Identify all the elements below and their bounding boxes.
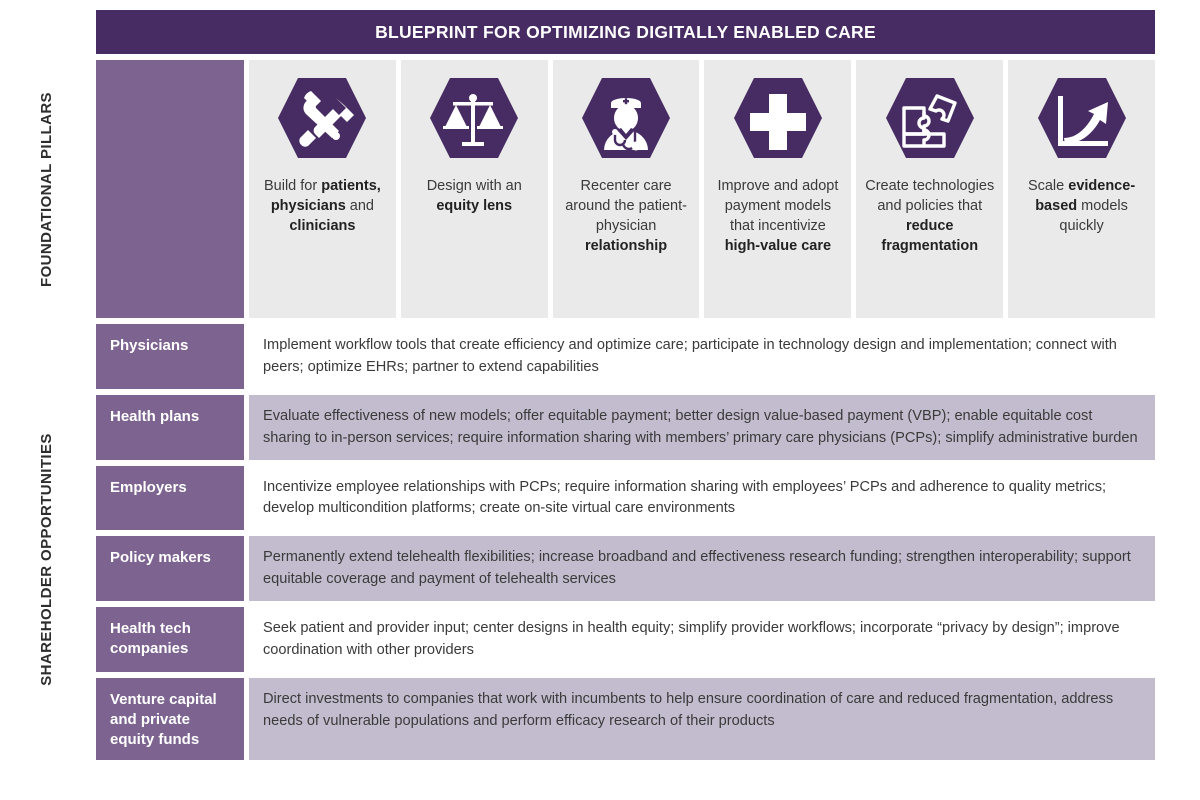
pillar-label: Scale evidence-based models quickly (1016, 176, 1147, 236)
table-row: Policy makersPermanently extend teleheal… (96, 536, 1155, 601)
stakeholder-opportunity-text: Permanently extend telehealth flexibilit… (249, 536, 1155, 601)
stakeholder-label: Health tech companies (96, 607, 244, 672)
balance-scales-icon (426, 74, 522, 162)
side-label-pillars-text: FOUNDATIONAL PILLARS (38, 92, 55, 287)
pillar-label: Improve and adopt payment models that in… (712, 176, 843, 256)
table-row: Health plansEvaluate effectiveness of ne… (96, 395, 1155, 460)
table-row: Venture capital and private equity funds… (96, 678, 1155, 760)
pillar-card-6: Scale evidence-based models quickly (1008, 60, 1155, 318)
table-row: PhysiciansImplement workflow tools that … (96, 324, 1155, 389)
side-label-shareholder-opportunities: SHAREHOLDER OPPORTUNITIES (0, 320, 92, 798)
stakeholder-label: Health plans (96, 395, 244, 460)
pillar-label: Design with an equity lens (409, 176, 540, 216)
doctor-stethoscope-icon (578, 74, 674, 162)
pillar-label: Build for patients, physicians and clini… (257, 176, 388, 236)
stakeholder-opportunity-text: Seek patient and provider input; center … (249, 607, 1155, 672)
pillar-card-4: Improve and adopt payment models that in… (704, 60, 851, 318)
stakeholder-opportunity-text: Evaluate effectiveness of new models; of… (249, 395, 1155, 460)
blueprint-infographic: FOUNDATIONAL PILLARS SHAREHOLDER OPPORTU… (0, 0, 1200, 800)
stakeholder-opportunity-text: Direct investments to companies that wor… (249, 678, 1155, 760)
stakeholder-label: Employers (96, 466, 244, 531)
pillar-card-2: Design with an equity lens (401, 60, 548, 318)
puzzle-pieces-icon (882, 74, 978, 162)
pillar-label: Recenter care around the patient-physici… (561, 176, 692, 256)
stakeholder-opportunity-text: Incentivize employee relationships with … (249, 466, 1155, 531)
medical-cross-icon (730, 74, 826, 162)
foundational-pillars-row: Build for patients, physicians and clini… (96, 60, 1155, 318)
pillar-card-5: Create technologies and policies that re… (856, 60, 1003, 318)
stakeholder-label: Policy makers (96, 536, 244, 601)
stakeholder-label: Physicians (96, 324, 244, 389)
blueprint-grid: BLUEPRINT FOR OPTIMIZING DIGITALLY ENABL… (96, 10, 1155, 766)
table-row: Health tech companiesSeek patient and pr… (96, 607, 1155, 672)
stakeholder-label: Venture capital and private equity funds (96, 678, 244, 760)
stakeholder-opportunity-text: Implement workflow tools that create eff… (249, 324, 1155, 389)
growth-chart-arrow-icon (1034, 74, 1130, 162)
side-label-stakeholders-text: SHAREHOLDER OPPORTUNITIES (38, 433, 55, 686)
pillar-label: Create technologies and policies that re… (864, 176, 995, 256)
side-label-foundational-pillars: FOUNDATIONAL PILLARS (0, 60, 92, 318)
tools-wrench-hammer-icon (274, 74, 370, 162)
pillar-card-3: Recenter care around the patient-physici… (553, 60, 700, 318)
stakeholder-rows: PhysiciansImplement workflow tools that … (96, 324, 1155, 760)
table-row: EmployersIncentivize employee relationsh… (96, 466, 1155, 531)
pillar-card-1: Build for patients, physicians and clini… (249, 60, 396, 318)
page-title: BLUEPRINT FOR OPTIMIZING DIGITALLY ENABL… (96, 10, 1155, 54)
corner-blank-cell (96, 60, 244, 318)
